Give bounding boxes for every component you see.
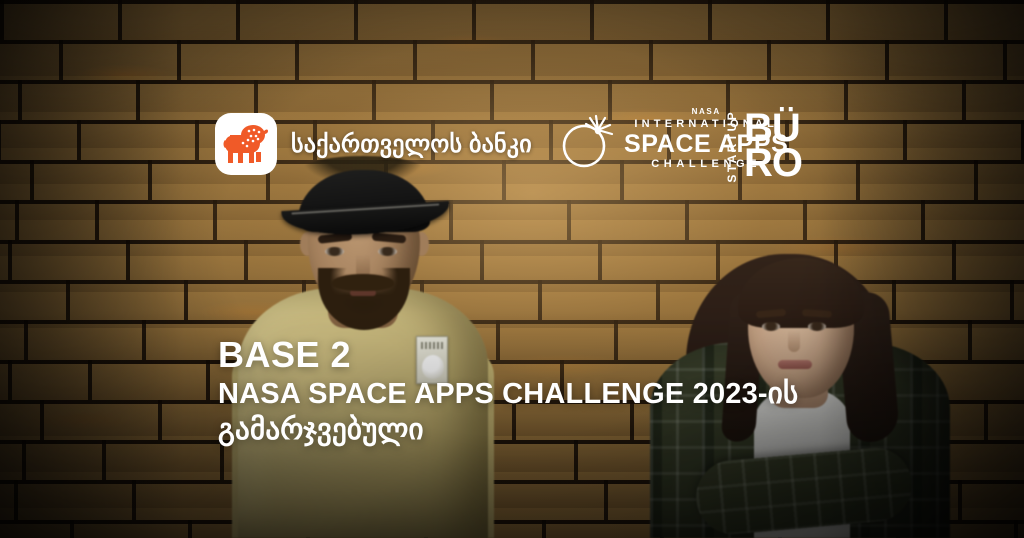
promo-banner: საქართველოს ბანკი NASA INTERNATIONAL SPA…: [0, 0, 1024, 538]
logo-bank-of-georgia: საქართველოს ბანკი: [215, 113, 532, 175]
headline-title: BASE 2: [218, 336, 798, 374]
photo-vignette: [0, 0, 1024, 538]
headline-block: BASE 2 NASA SPACE APPS CHALLENGE 2023-ის…: [218, 336, 798, 449]
bog-wordmark: საქართველოს ბანკი: [291, 130, 532, 159]
bog-lion-icon: [215, 113, 277, 175]
buro-wordmark: BÜ RO: [744, 111, 802, 181]
buro-line-ro: RO: [744, 146, 802, 181]
space-apps-circle-burst-icon: [560, 108, 616, 170]
logo-startup-buro: STARTUP BÜ RO: [726, 110, 802, 183]
buro-startup-vertical-text: STARTUP: [726, 110, 738, 183]
headline-subtitle-line-2: გამარჯვებული: [218, 412, 798, 449]
headline-subtitle-line-1: NASA SPACE APPS CHALLENGE 2023-ის: [218, 376, 798, 413]
